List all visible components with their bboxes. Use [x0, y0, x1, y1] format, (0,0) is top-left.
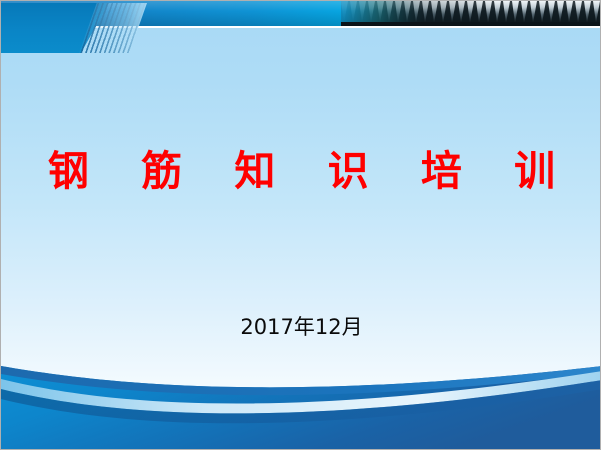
presentation-slide: 钢 筋 知 识 培 训 2017年12月 [0, 0, 601, 450]
slide-title: 钢 筋 知 识 培 训 [1, 145, 601, 197]
blue-wave-swoosh [1, 349, 601, 449]
slide-subtitle: 2017年12月 [1, 313, 601, 341]
